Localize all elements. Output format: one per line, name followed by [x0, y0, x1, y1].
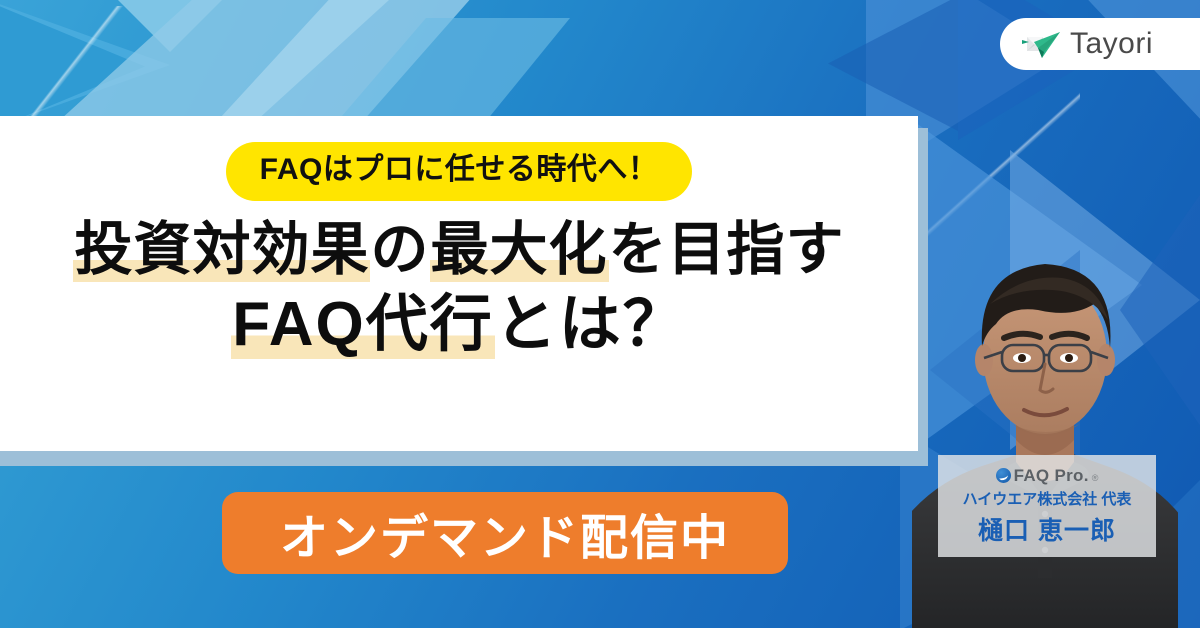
speaker-name-plate: FAQ Pro. ® ハイウエア株式会社 代表 樋口 恵一郎 — [938, 455, 1156, 557]
faq-pro-circle-icon — [996, 468, 1011, 483]
headline-plain-run: を目指す — [609, 217, 845, 282]
webinar-banner: FAQ Pro. ® ハイウエア株式会社 代表 樋口 恵一郎 FAQはプロに任せ… — [0, 0, 1200, 628]
headline-card: FAQはプロに任せる時代へ！ 投資対効果の最大化を目指す FAQ代行とは？ — [0, 116, 918, 451]
headline-plain-run: の — [370, 217, 429, 282]
cta-on-demand-button[interactable]: オンデマンド配信中 — [222, 492, 788, 574]
headline-highlighted-run: 投資対効果 — [73, 217, 370, 282]
headline-line-1: 投資対効果の最大化を目指す — [73, 215, 844, 286]
tayori-logo[interactable]: Tayori — [1000, 18, 1200, 70]
headline: 投資対効果の最大化を目指す FAQ代行とは？ — [73, 215, 844, 363]
speaker-name: 樋口 恵一郎 — [978, 511, 1116, 547]
eyebrow-badge: FAQはプロに任せる時代へ！ — [226, 142, 693, 201]
registered-trademark-icon: ® — [1092, 473, 1099, 486]
decor-hairline-left — [0, 6, 154, 126]
tayori-logo-text: Tayori — [1070, 27, 1153, 61]
headline-line-2: FAQ代行とは？ — [73, 287, 844, 363]
faq-pro-logo: FAQ Pro. ® — [996, 466, 1099, 486]
headline-highlighted-run: FAQ代行 — [231, 290, 494, 359]
headline-highlighted-run: 最大化 — [430, 217, 609, 282]
speaker-photo — [912, 178, 1178, 628]
speaker-company: ハイウエア株式会社 代表 — [963, 488, 1132, 509]
headline-plain-run: とは？ — [495, 290, 687, 359]
paper-plane-envelope-icon — [1022, 28, 1060, 60]
faq-pro-logo-text: FAQ Pro. — [1014, 466, 1089, 486]
